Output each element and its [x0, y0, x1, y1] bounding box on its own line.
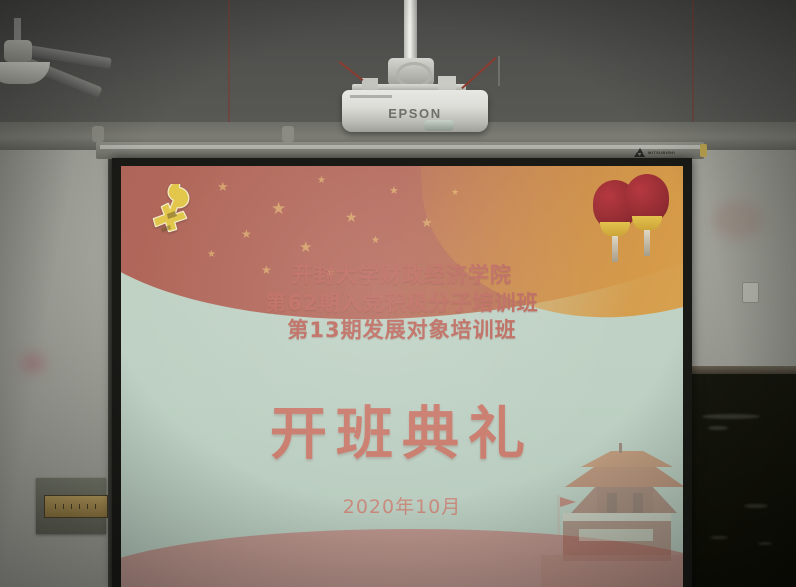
blackboard: [686, 374, 796, 587]
slide-date: 2020年10月: [121, 492, 683, 519]
cpc-emblem-icon: [149, 184, 201, 240]
slide-title-line-3: 第13期发展对象培训班: [121, 317, 683, 345]
lanterns-decoration: [591, 172, 677, 264]
screen-brand-text: MITSUBISHI: [648, 150, 675, 155]
wall-stain: [712, 200, 764, 240]
screen-housing-highlight: [100, 145, 700, 149]
projector-lens: [424, 120, 454, 131]
projector-cable: [498, 56, 500, 86]
wall-plaque: [36, 478, 106, 534]
three-diamond-icon: [634, 148, 645, 157]
slide-title-line-2: 第62期入党积极分子培训班: [121, 290, 683, 318]
projector-pole: [404, 0, 417, 64]
projection-screen[interactable]: ★ ★ ★ ★ ★ ★ ★ ★ ★ ★ ★ ★ ★: [121, 166, 683, 587]
wall-stain: [20, 352, 46, 374]
slide-title-line-1: 开封大学财政经济学院: [121, 262, 683, 290]
wall-outlet: [742, 282, 759, 303]
beam-knob: [282, 126, 294, 142]
projector-vent: [350, 95, 392, 98]
slide: ★ ★ ★ ★ ★ ★ ★ ★ ★ ★ ★ ★ ★: [121, 166, 683, 587]
screen-brand: MITSUBISHI: [634, 147, 696, 157]
classroom-scene: EPSON MITSUBISHI ★ ★ ★ ★ ★ ★ ★ ★: [0, 0, 796, 587]
slide-headline: 开班典礼: [121, 388, 683, 470]
screen-pull-knob[interactable]: [700, 144, 707, 157]
projector-brand-label: EPSON: [342, 106, 488, 121]
slide-subtitle: 开封大学财政经济学院 第62期入党积极分子培训班 第13期发展对象培训班: [121, 262, 683, 345]
beam-knob: [92, 126, 104, 142]
